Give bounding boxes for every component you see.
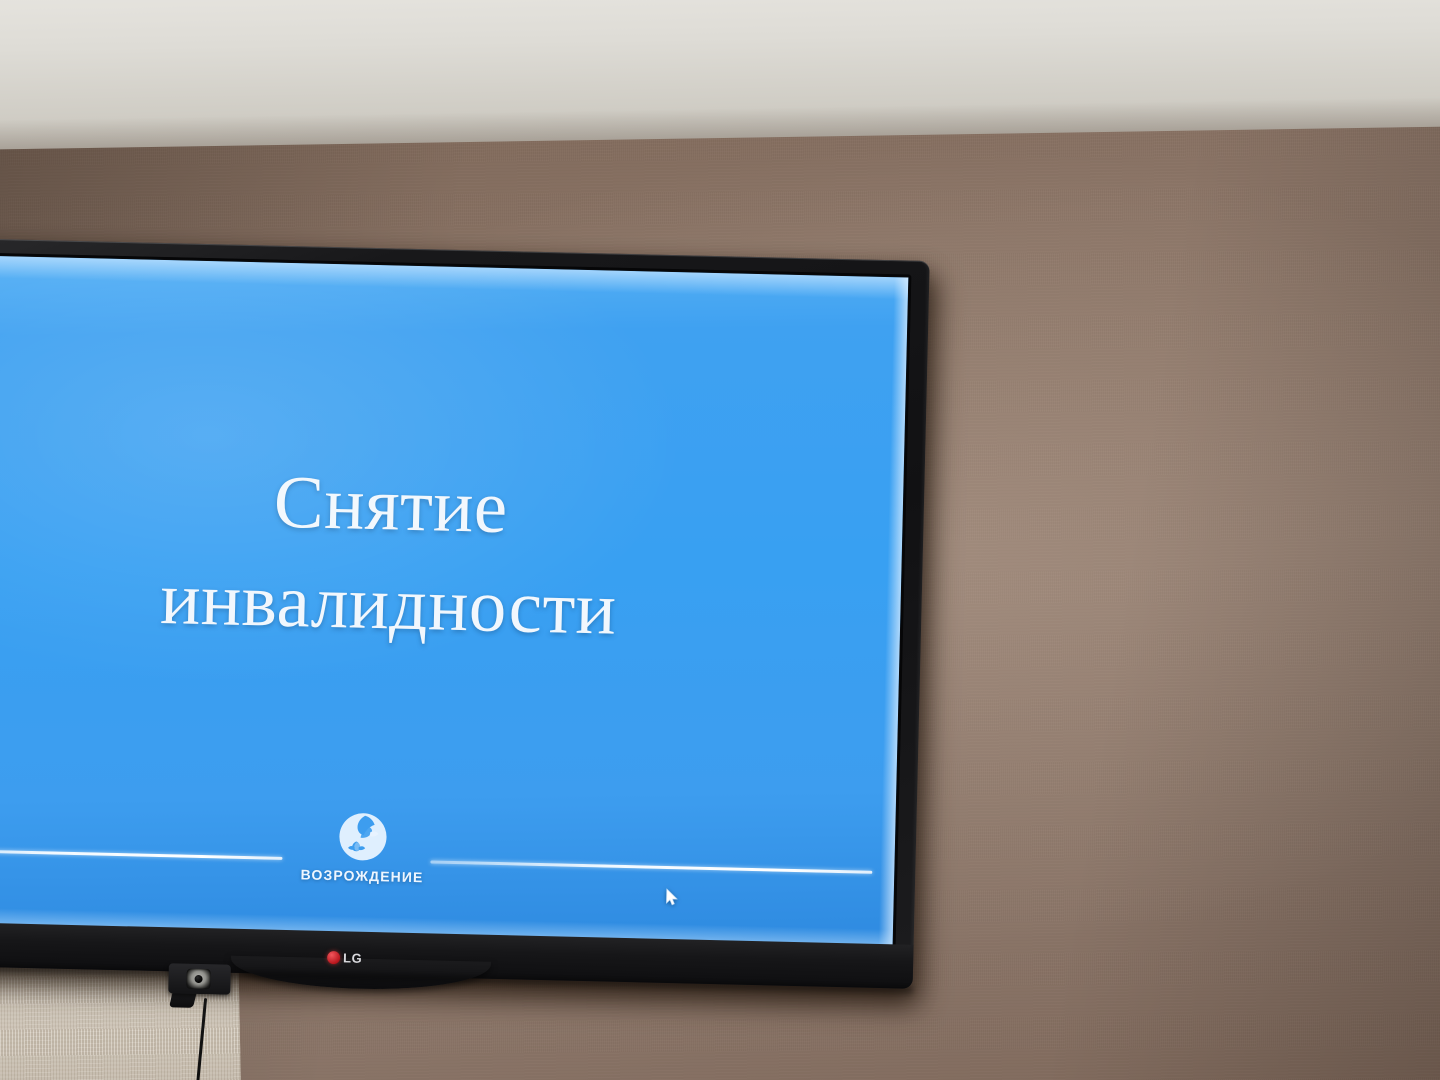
lg-wordmark: LG <box>343 950 362 965</box>
webcam-body <box>168 963 231 994</box>
webcam-lens-icon <box>186 969 210 990</box>
footer-rule-left <box>0 848 282 860</box>
vozrozhdenie-emblem-icon <box>336 810 389 863</box>
room-scene: Снятие инвалидности <box>0 0 1440 1080</box>
slide-title: Снятие инвалидности <box>0 443 904 665</box>
slide-title-line-2: инвалидности <box>0 544 832 664</box>
mouse-pointer-icon <box>665 888 678 906</box>
wall-mounted-television[interactable]: Снятие инвалидности <box>0 236 930 989</box>
organization-branding: ВОЗРОЖДЕНИЕ <box>288 809 438 885</box>
organization-name: ВОЗРОЖДЕНИЕ <box>288 866 436 885</box>
tv-bezel: Снятие инвалидности <box>0 236 930 989</box>
footer-rule-right <box>430 860 872 873</box>
lg-circle-icon <box>327 951 340 964</box>
tv-screen[interactable]: Снятие инвалидности <box>0 253 908 945</box>
lg-brand-logo: LG <box>327 950 362 966</box>
tv-screen-frame: Снятие инвалидности <box>0 250 911 948</box>
slide-title-line-1: Снятие <box>0 445 834 565</box>
slide-footer: ВОЗРОЖДЕНИЕ <box>0 793 896 927</box>
presentation-slide[interactable]: Снятие инвалидности <box>0 253 908 945</box>
clip-on-webcam[interactable] <box>168 963 231 1010</box>
